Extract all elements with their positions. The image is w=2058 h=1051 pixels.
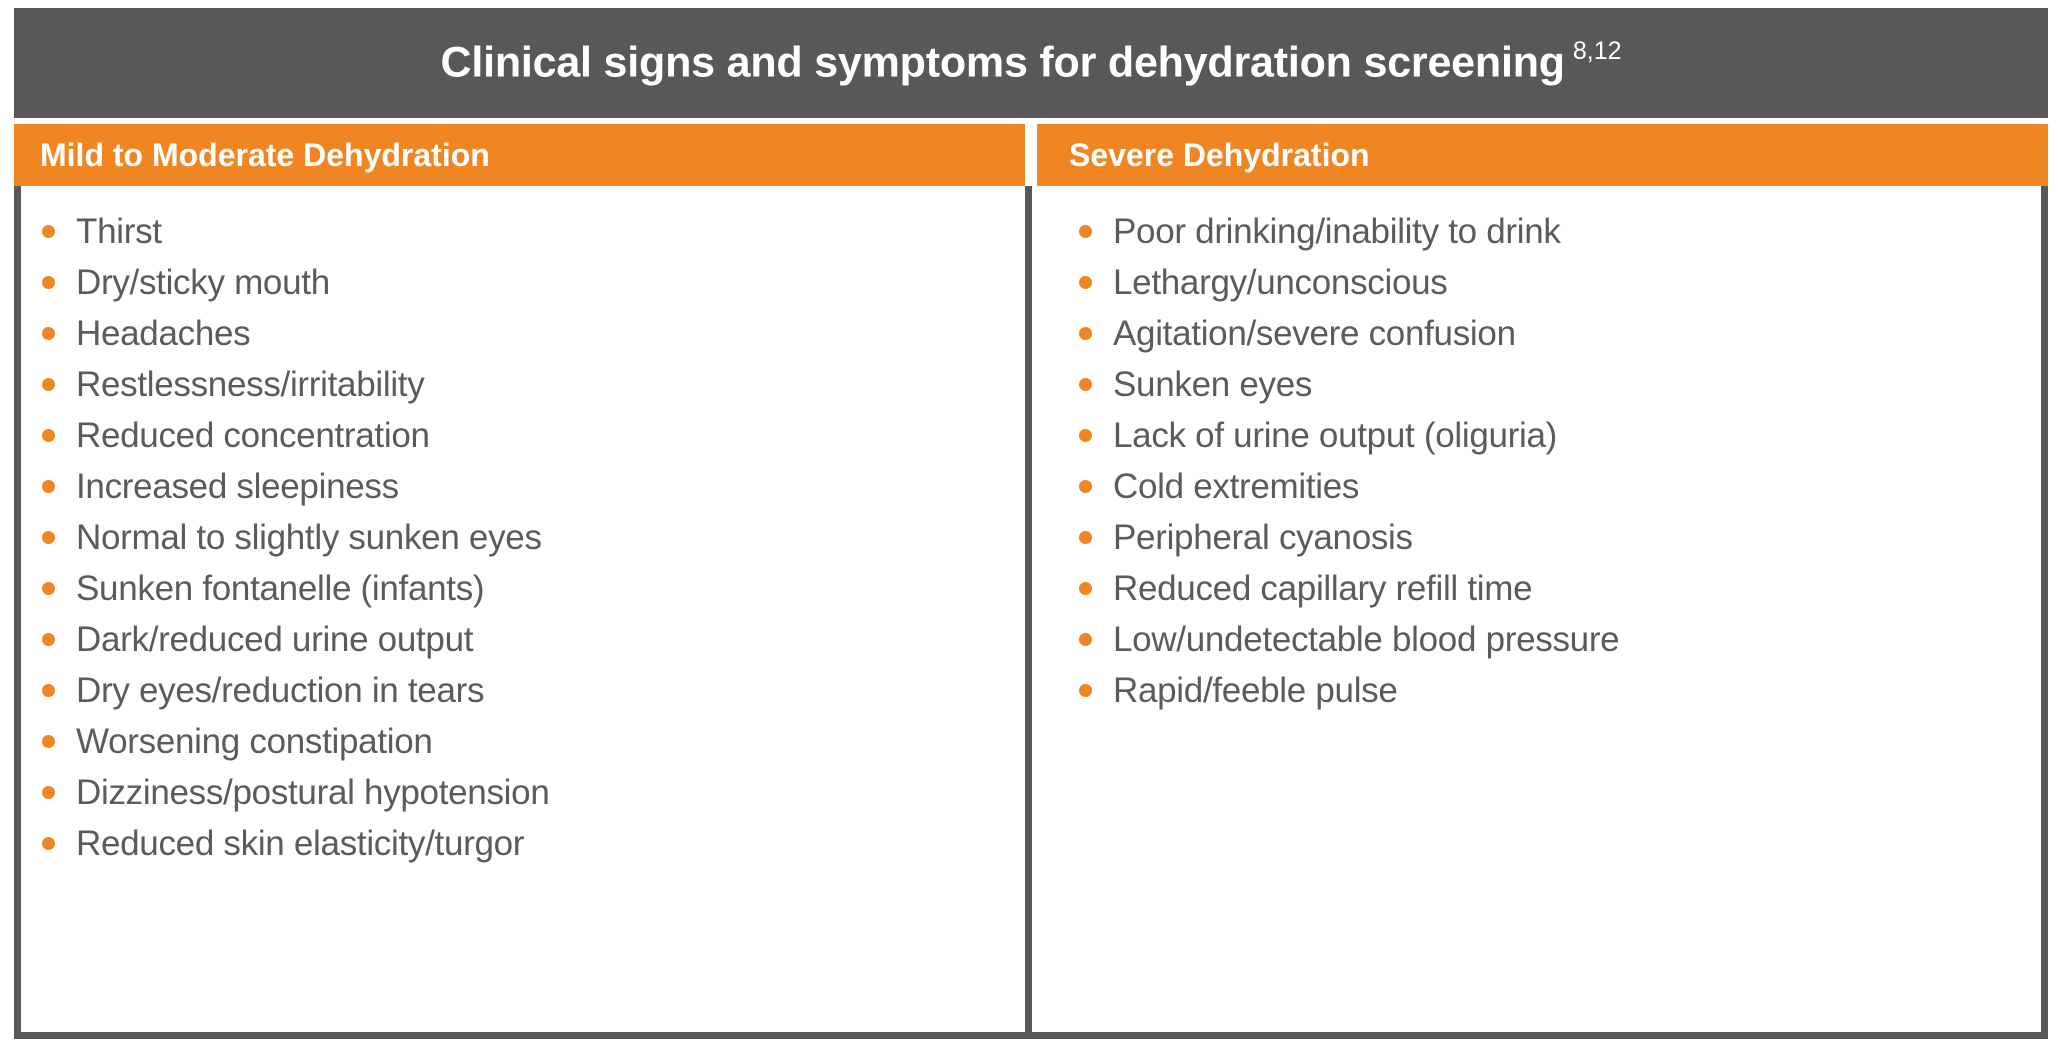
list-item-label: Dark/reduced urine output bbox=[76, 620, 473, 659]
bullet-icon bbox=[1079, 633, 1092, 646]
bullet-icon bbox=[42, 582, 55, 595]
symptom-list-mild-to-moderate: Thirst Dry/sticky mouth Headaches Restle… bbox=[42, 214, 1025, 861]
list-item-label: Rapid/feeble pulse bbox=[1113, 671, 1398, 710]
list-item: Restlessness/irritability bbox=[42, 367, 1025, 402]
bullet-icon bbox=[1079, 480, 1092, 493]
list-item: Cold extremities bbox=[1079, 469, 2041, 504]
column-header-label: Mild to Moderate Dehydration bbox=[40, 139, 490, 171]
list-item-label: Lethargy/unconscious bbox=[1113, 263, 1448, 302]
list-item: Poor drinking/inability to drink bbox=[1079, 214, 2041, 249]
bullet-icon bbox=[42, 327, 55, 340]
bullet-icon bbox=[42, 480, 55, 493]
list-item: Increased sleepiness bbox=[42, 469, 1025, 504]
list-item: Normal to slightly sunken eyes bbox=[42, 520, 1025, 555]
list-item-label: Worsening constipation bbox=[76, 722, 433, 761]
list-item: Headaches bbox=[42, 316, 1025, 351]
column-header-severe: Severe Dehydration bbox=[1037, 124, 2048, 186]
list-item-label: Restlessness/irritability bbox=[76, 365, 424, 404]
list-item: Rapid/feeble pulse bbox=[1079, 673, 2041, 708]
bullet-icon bbox=[42, 633, 55, 646]
list-item: Lack of urine output (oliguria) bbox=[1079, 418, 2041, 453]
table-columns: Thirst Dry/sticky mouth Headaches Restle… bbox=[21, 186, 2041, 1032]
list-item-label: Agitation/severe confusion bbox=[1113, 314, 1516, 353]
table-title-bar: Clinical signs and symptoms for dehydrat… bbox=[14, 8, 2048, 118]
list-item-label: Reduced capillary refill time bbox=[1113, 569, 1532, 608]
bullet-icon bbox=[42, 531, 55, 544]
list-item-label: Headaches bbox=[76, 314, 250, 353]
list-item: Reduced skin elasticity/turgor bbox=[42, 826, 1025, 861]
bullet-icon bbox=[1079, 582, 1092, 595]
list-item-label: Increased sleepiness bbox=[76, 467, 399, 506]
bullet-icon bbox=[42, 429, 55, 442]
list-item: Dark/reduced urine output bbox=[42, 622, 1025, 657]
column-severe: Poor drinking/inability to drink Letharg… bbox=[1025, 186, 2041, 1032]
column-header-band: Mild to Moderate Dehydration Severe Dehy… bbox=[14, 124, 2048, 186]
list-item-label: Reduced concentration bbox=[76, 416, 430, 455]
column-header-label: Severe Dehydration bbox=[1069, 139, 1370, 171]
bullet-icon bbox=[1079, 429, 1092, 442]
column-mild-to-moderate: Thirst Dry/sticky mouth Headaches Restle… bbox=[21, 186, 1025, 1032]
list-item-label: Cold extremities bbox=[1113, 467, 1359, 506]
list-item: Dizziness/postural hypotension bbox=[42, 775, 1025, 810]
column-header-divider-gap bbox=[1025, 124, 1037, 186]
list-item-label: Reduced skin elasticity/turgor bbox=[76, 824, 524, 863]
title-reference-superscript: 8,12 bbox=[1573, 37, 1622, 65]
dehydration-screening-table: Clinical signs and symptoms for dehydrat… bbox=[0, 0, 2058, 1051]
bullet-icon bbox=[1079, 378, 1092, 391]
bullet-icon bbox=[42, 378, 55, 391]
title-label: Clinical signs and symptoms for dehydrat… bbox=[440, 39, 1564, 87]
list-item: Lethargy/unconscious bbox=[1079, 265, 2041, 300]
list-item-label: Dizziness/postural hypotension bbox=[76, 773, 549, 812]
list-item-label: Thirst bbox=[76, 212, 162, 251]
list-item: Reduced capillary refill time bbox=[1079, 571, 2041, 606]
list-item-label: Peripheral cyanosis bbox=[1113, 518, 1413, 557]
list-item-label: Low/undetectable blood pressure bbox=[1113, 620, 1619, 659]
bullet-icon bbox=[1079, 276, 1092, 289]
list-item: Reduced concentration bbox=[42, 418, 1025, 453]
bullet-icon bbox=[1079, 327, 1092, 340]
column-header-mild-to-moderate: Mild to Moderate Dehydration bbox=[14, 124, 1025, 186]
list-item-label: Normal to slightly sunken eyes bbox=[76, 518, 542, 557]
list-item: Low/undetectable blood pressure bbox=[1079, 622, 2041, 657]
page-title: Clinical signs and symptoms for dehydrat… bbox=[440, 41, 1621, 84]
list-item-label: Sunken eyes bbox=[1113, 365, 1312, 404]
list-item-label: Dry/sticky mouth bbox=[76, 263, 330, 302]
list-item-label: Dry eyes/reduction in tears bbox=[76, 671, 484, 710]
bullet-icon bbox=[42, 837, 55, 850]
list-item: Dry eyes/reduction in tears bbox=[42, 673, 1025, 708]
list-item-label: Sunken fontanelle (infants) bbox=[76, 569, 484, 608]
bullet-icon bbox=[42, 735, 55, 748]
bullet-icon bbox=[1079, 225, 1092, 238]
list-item: Dry/sticky mouth bbox=[42, 265, 1025, 300]
list-item: Sunken eyes bbox=[1079, 367, 2041, 402]
bullet-icon bbox=[1079, 531, 1092, 544]
bullet-icon bbox=[42, 786, 55, 799]
list-item: Sunken fontanelle (infants) bbox=[42, 571, 1025, 606]
list-item-label: Lack of urine output (oliguria) bbox=[1113, 416, 1557, 455]
list-item: Thirst bbox=[42, 214, 1025, 249]
bullet-icon bbox=[42, 276, 55, 289]
bullet-icon bbox=[42, 684, 55, 697]
symptom-list-severe: Poor drinking/inability to drink Letharg… bbox=[1079, 214, 2041, 708]
list-item: Agitation/severe confusion bbox=[1079, 316, 2041, 351]
bullet-icon bbox=[1079, 684, 1092, 697]
bullet-icon bbox=[42, 225, 55, 238]
list-item: Peripheral cyanosis bbox=[1079, 520, 2041, 555]
list-item-label: Poor drinking/inability to drink bbox=[1113, 212, 1561, 251]
list-item: Worsening constipation bbox=[42, 724, 1025, 759]
